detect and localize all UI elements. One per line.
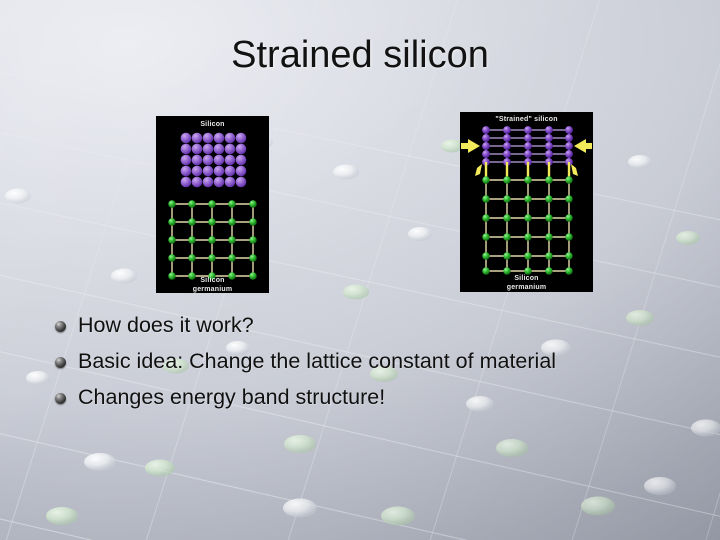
bullet-orb-icon	[55, 357, 66, 368]
left-figure-top-caption: Silicon	[156, 120, 269, 129]
bullet-orb-icon	[55, 321, 66, 332]
bullet-text: Changes energy band structure!	[78, 385, 572, 410]
bullet-list: How does it work? Basic idea: Change the…	[52, 313, 572, 410]
slide-canvas: Strained silicon	[0, 0, 720, 540]
right-figure-bottom-caption-line2: germanium	[460, 283, 593, 292]
background-lattice-decoration	[0, 0, 720, 540]
left-figure-bottom-caption-line2: germanium	[156, 285, 269, 293]
list-item: Changes energy band structure!	[52, 385, 572, 410]
figure-strained-silicon: "Strained" silicon Silicon germanium	[460, 112, 593, 292]
bullet-text: Basic idea: Change the lattice constant …	[78, 349, 572, 374]
unstrained-lattice-diagram	[156, 116, 269, 293]
left-figure-bottom-caption-line1: Silicon	[156, 276, 269, 285]
right-figure-bottom-caption-line1: Silicon	[460, 274, 593, 283]
bullet-text: How does it work?	[78, 313, 572, 338]
right-figure-top-caption: "Strained" silicon	[460, 115, 593, 124]
list-item: How does it work?	[52, 313, 572, 338]
bullet-orb-icon	[55, 393, 66, 404]
slide-title: Strained silicon	[0, 34, 720, 77]
figure-unstrained-silicon: Silicon Silicon germanium	[156, 116, 269, 293]
list-item: Basic idea: Change the lattice constant …	[52, 349, 572, 374]
strained-lattice-diagram	[460, 112, 593, 292]
